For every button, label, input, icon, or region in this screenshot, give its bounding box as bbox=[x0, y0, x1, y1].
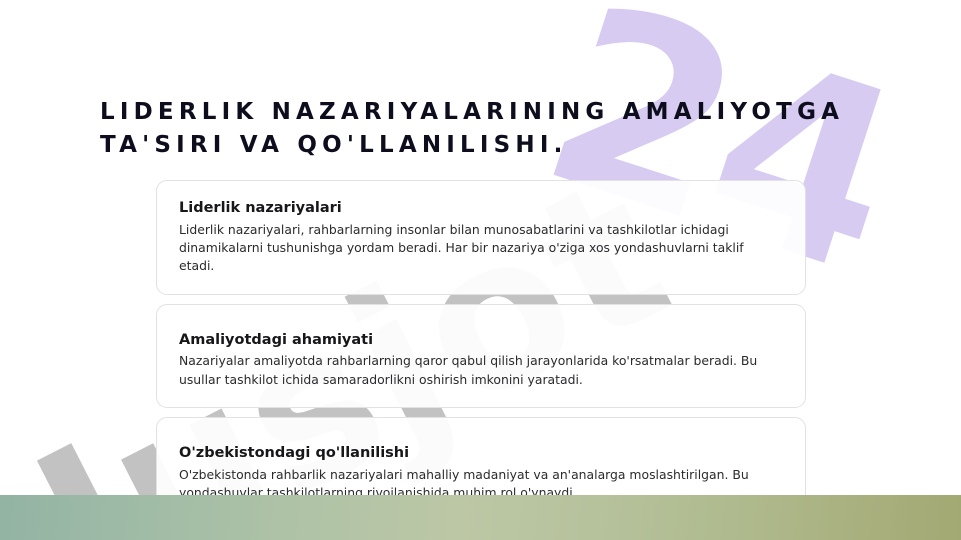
card-title: Amaliyotdagi ahamiyati bbox=[179, 331, 779, 350]
page-title: Liderlik nazariyalarining amaliyotga ta'… bbox=[100, 96, 900, 161]
card-title: O'zbekistondagi qo'llanilishi bbox=[179, 444, 779, 463]
list-item: Amaliyotdagi ahamiyati Nazariyalar amali… bbox=[156, 304, 806, 408]
card-list: Liderlik nazariyalari Liderlik nazariyal… bbox=[156, 180, 806, 521]
card-body: Liderlik nazariyalari, rahbarlarning ins… bbox=[179, 221, 779, 276]
footer-gradient-bar bbox=[0, 495, 961, 540]
card-body: Nazariyalar amaliyotda rahbarlarning qar… bbox=[179, 352, 779, 388]
list-item: Liderlik nazariyalari Liderlik nazariyal… bbox=[156, 180, 806, 295]
presentation-slide: 24 Husjot Liderlik nazariyalarining amal… bbox=[0, 0, 961, 540]
card-title: Liderlik nazariyalari bbox=[179, 199, 779, 218]
